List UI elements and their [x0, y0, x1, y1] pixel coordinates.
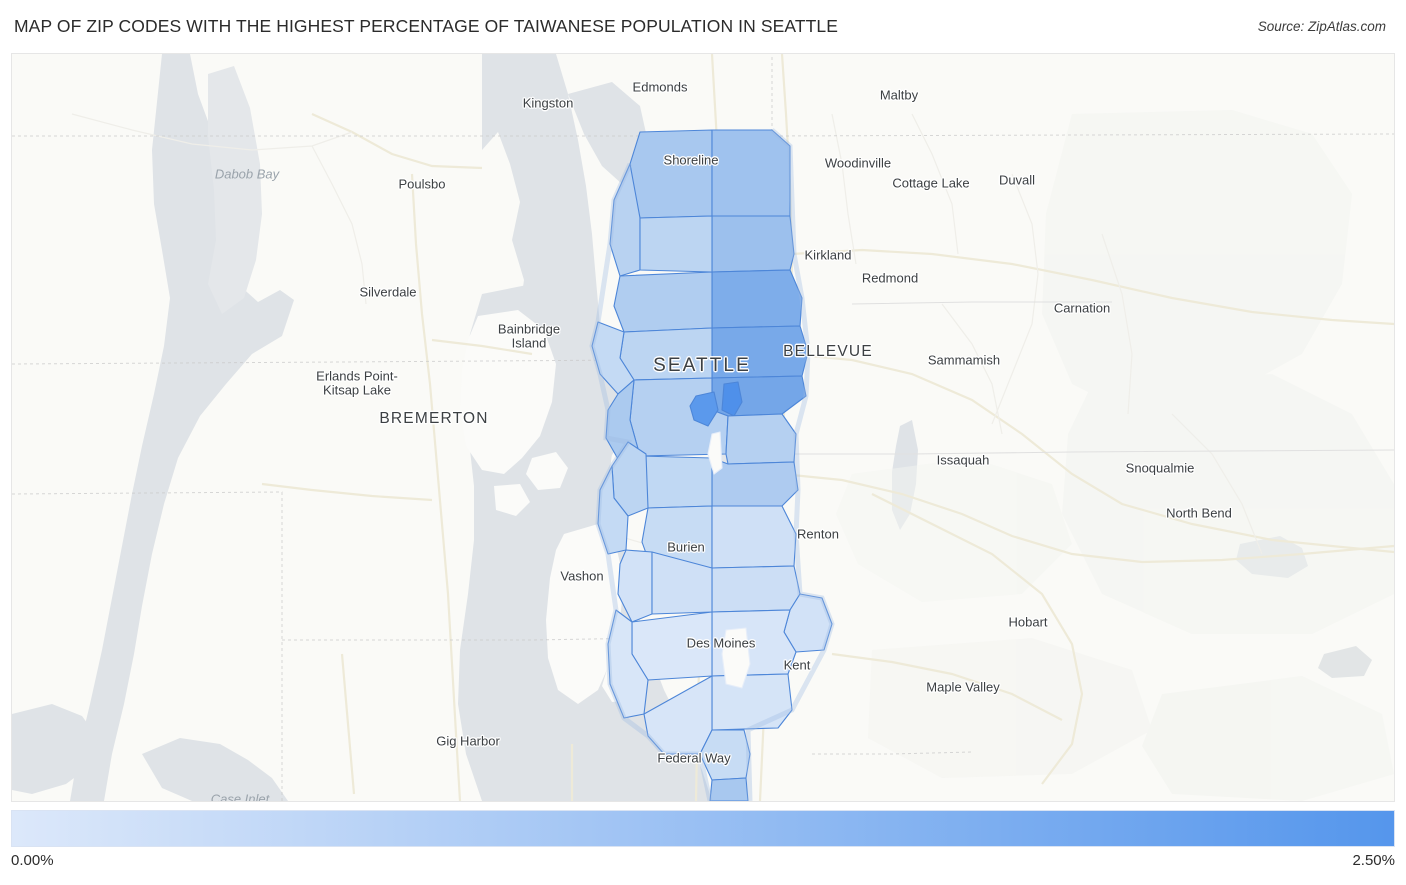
zip-seatac	[712, 674, 792, 730]
zip-seward-park	[712, 566, 800, 612]
map-svg	[12, 54, 1394, 801]
zip-wedgwood	[712, 326, 808, 378]
legend-gradient-bar	[11, 810, 1395, 847]
zip-lake-forest-park	[712, 216, 794, 272]
legend-max-label: 2.50%	[1352, 852, 1395, 869]
zip-northgate	[712, 270, 802, 328]
zip-burien	[632, 612, 712, 680]
zip-north-seattle-w2	[640, 216, 712, 272]
source-attribution: Source: ZipAtlas.com	[1258, 19, 1392, 34]
legend-labels: 0.00% 2.50%	[11, 852, 1395, 869]
map-canvas[interactable]	[12, 54, 1394, 801]
zip-capitol-hill	[712, 458, 798, 506]
zip-des-moines-south	[710, 778, 748, 801]
zip-greenwood	[614, 272, 712, 332]
page-header: MAP OF ZIP CODES WITH THE HIGHEST PERCEN…	[0, 0, 1406, 52]
zip-shoreline-north	[630, 130, 712, 218]
map-page: MAP OF ZIP CODES WITH THE HIGHEST PERCEN…	[0, 0, 1406, 885]
zip-ballard	[620, 328, 712, 380]
zip-rainier-valley	[712, 506, 796, 568]
zip-queen-anne	[726, 414, 796, 464]
map-frame[interactable]: KingstonEdmondsMaltbyShorelineWoodinvill…	[11, 53, 1395, 802]
legend-min-label: 0.00%	[11, 852, 54, 869]
zip-shoreline-northeast	[712, 130, 790, 216]
page-title: MAP OF ZIP CODES WITH THE HIGHEST PERCEN…	[14, 16, 838, 37]
